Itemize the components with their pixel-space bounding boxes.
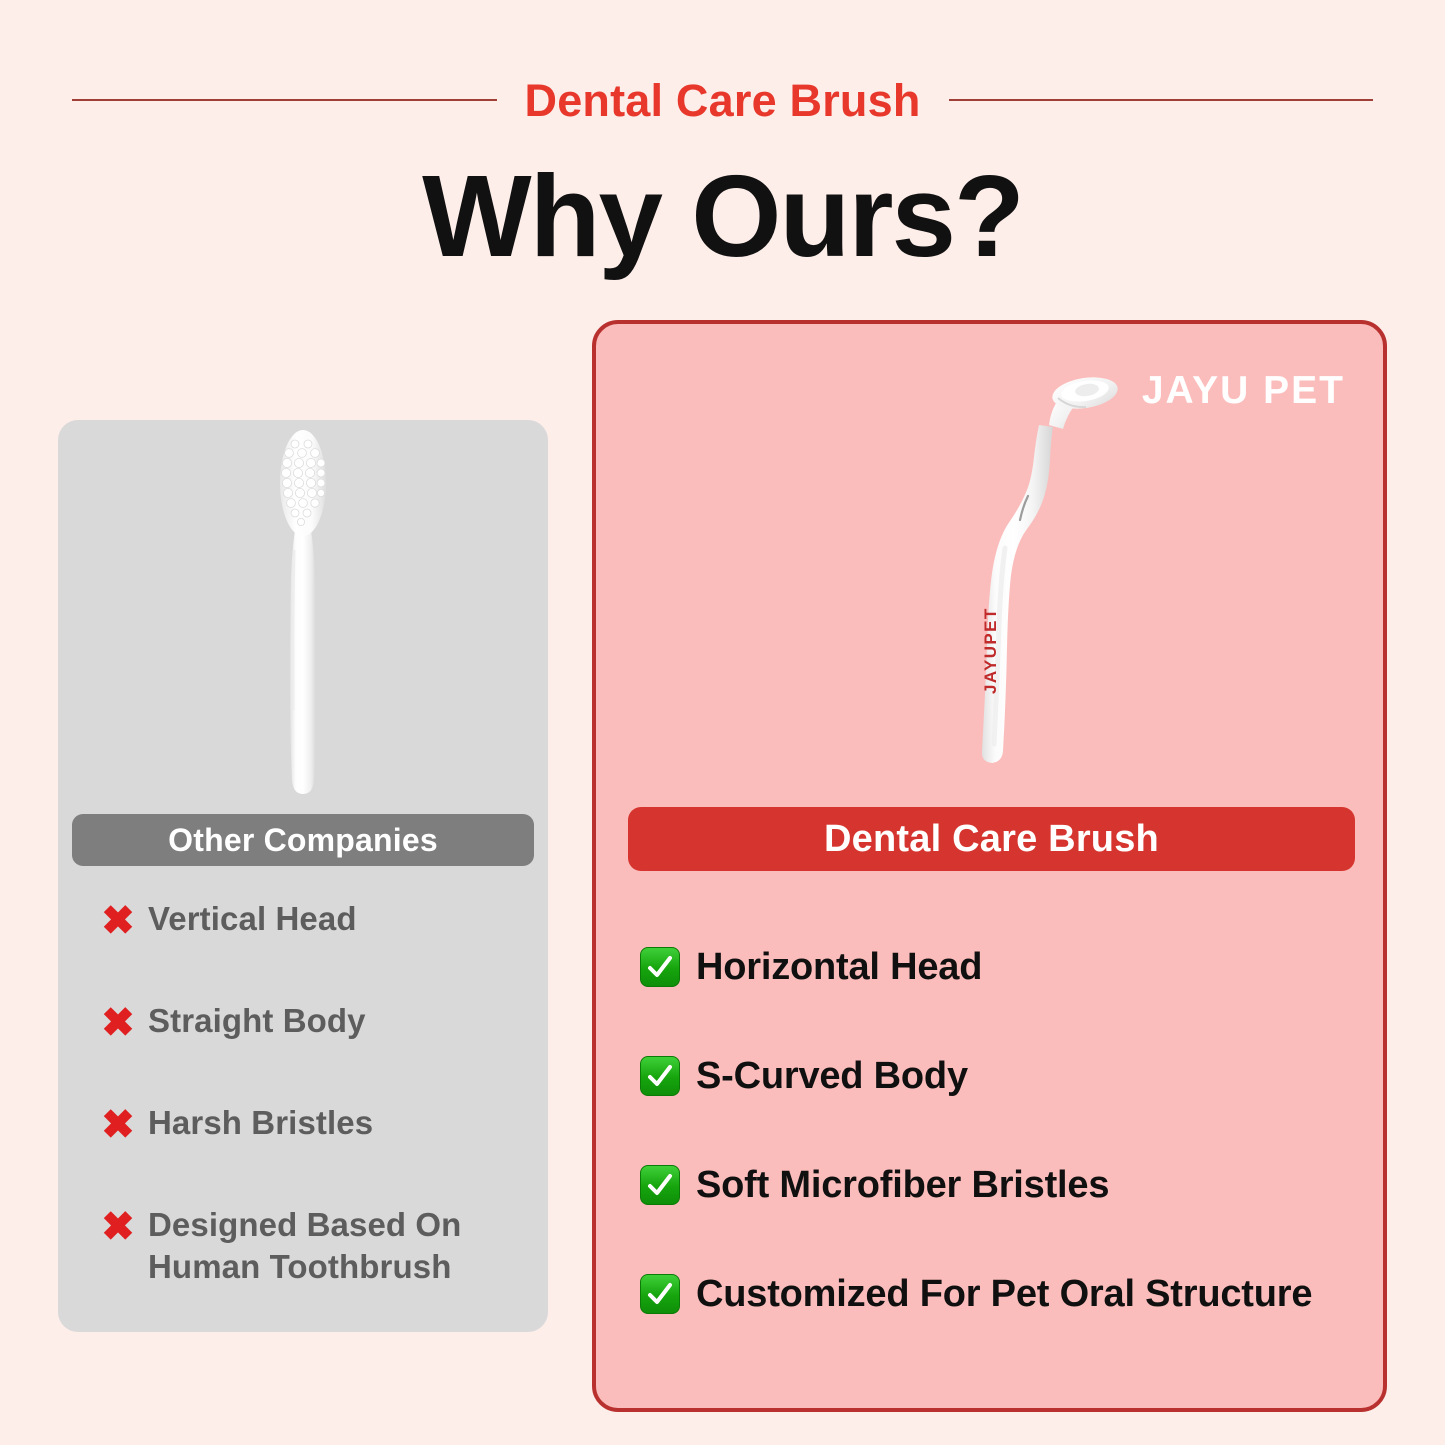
list-item-label: Vertical Head xyxy=(148,898,528,940)
list-item: Soft Microfiber Bristles xyxy=(640,1130,1360,1239)
x-mark-icon: ✖ xyxy=(88,1104,148,1146)
list-item: Customized For Pet Oral Structure xyxy=(640,1239,1360,1348)
green-check-icon xyxy=(640,1274,680,1314)
green-check-icon xyxy=(640,1165,680,1205)
list-item: S-Curved Body xyxy=(640,1021,1360,1130)
competitor-brush-image xyxy=(58,420,548,810)
competitor-feature-list: ✖ Vertical Head ✖ Straight Body ✖ Harsh … xyxy=(88,898,528,1328)
divider-line-left xyxy=(72,99,497,101)
eyebrow-title: Dental Care Brush xyxy=(521,78,925,123)
green-check-icon xyxy=(640,1056,680,1096)
product-header-bar: Dental Care Brush xyxy=(628,807,1355,871)
list-item-label: Harsh Bristles xyxy=(148,1102,528,1144)
handle-brand-text: JAYUPET xyxy=(981,607,1000,694)
x-mark-icon: ✖ xyxy=(88,900,148,942)
list-item: ✖ Vertical Head xyxy=(88,898,528,1000)
green-check-icon xyxy=(640,947,680,987)
divider-line-right xyxy=(949,99,1374,101)
list-item-label: Customized For Pet Oral Structure xyxy=(696,1272,1360,1316)
competitor-header-label: Other Companies xyxy=(168,822,438,859)
list-item-label: Horizontal Head xyxy=(696,945,1360,989)
list-item: ✖ Harsh Bristles xyxy=(88,1102,528,1204)
x-mark-icon: ✖ xyxy=(88,1002,148,1044)
list-item-label: Straight Body xyxy=(148,1000,528,1042)
product-header-label: Dental Care Brush xyxy=(824,818,1159,861)
list-item-label: Soft Microfiber Bristles xyxy=(696,1163,1360,1207)
list-item-label: Designed Based On Human Toothbrush xyxy=(148,1204,528,1288)
product-brush-image: JAYUPET xyxy=(596,324,1391,794)
competitor-header-bar: Other Companies xyxy=(72,814,534,866)
product-panel: JAYU PET xyxy=(592,320,1387,1412)
competitor-panel: Other Companies ✖ Vertical Head ✖ Straig… xyxy=(58,420,548,1332)
page-title: Why Ours? xyxy=(0,158,1445,274)
product-feature-list: Horizontal Head S-Curved Body Soft Micro… xyxy=(640,912,1360,1348)
eyebrow-header: Dental Care Brush xyxy=(72,68,1373,132)
list-item: ✖ Straight Body xyxy=(88,1000,528,1102)
list-item: Horizontal Head xyxy=(640,912,1360,1021)
x-mark-icon: ✖ xyxy=(88,1206,148,1248)
list-item-label: S-Curved Body xyxy=(696,1054,1360,1098)
list-item: ✖ Designed Based On Human Toothbrush xyxy=(88,1204,528,1328)
